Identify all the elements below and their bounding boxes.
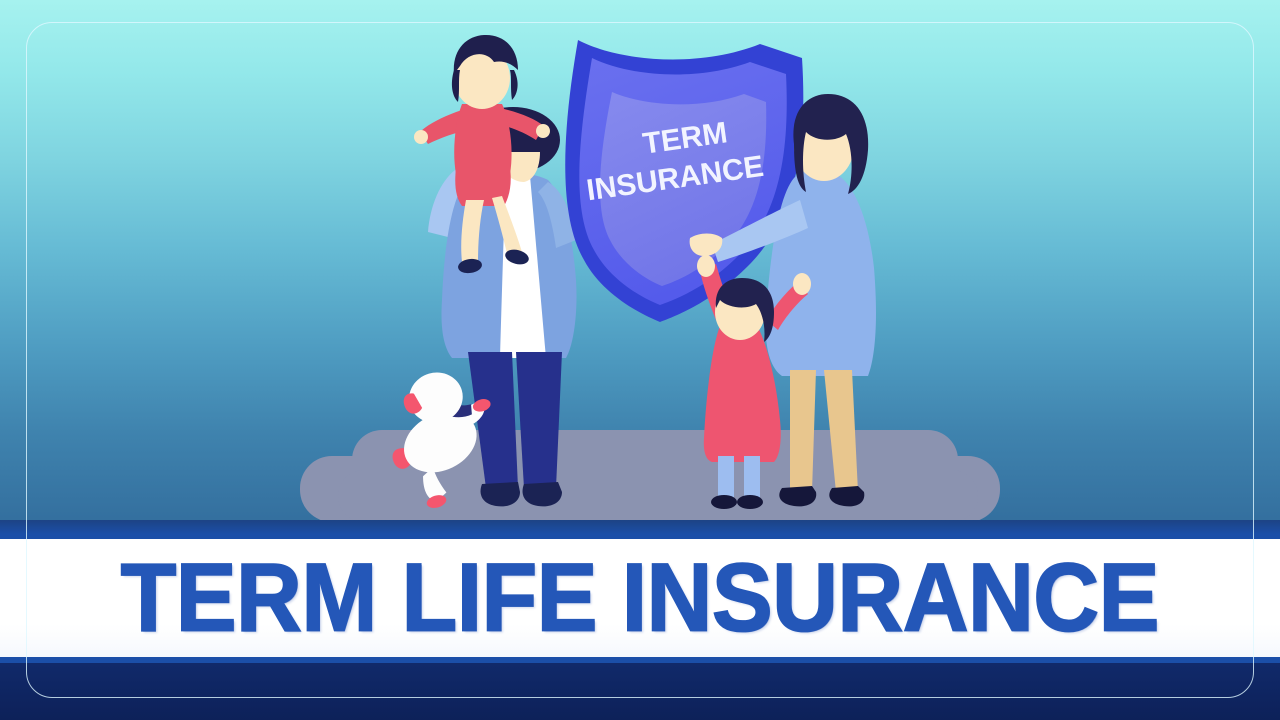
banner-top-sliver (0, 520, 1280, 534)
shield: TERM INSURANCE (565, 40, 803, 322)
insurance-hero-graphic: TERM INSURANCE (0, 0, 1280, 720)
title-banner: TERM LIFE INSURANCE (0, 520, 1280, 720)
banner-white-plate: TERM LIFE INSURANCE (0, 539, 1280, 657)
page-title: TERM LIFE INSURANCE (121, 550, 1159, 646)
banner-navy-strip (0, 663, 1280, 720)
